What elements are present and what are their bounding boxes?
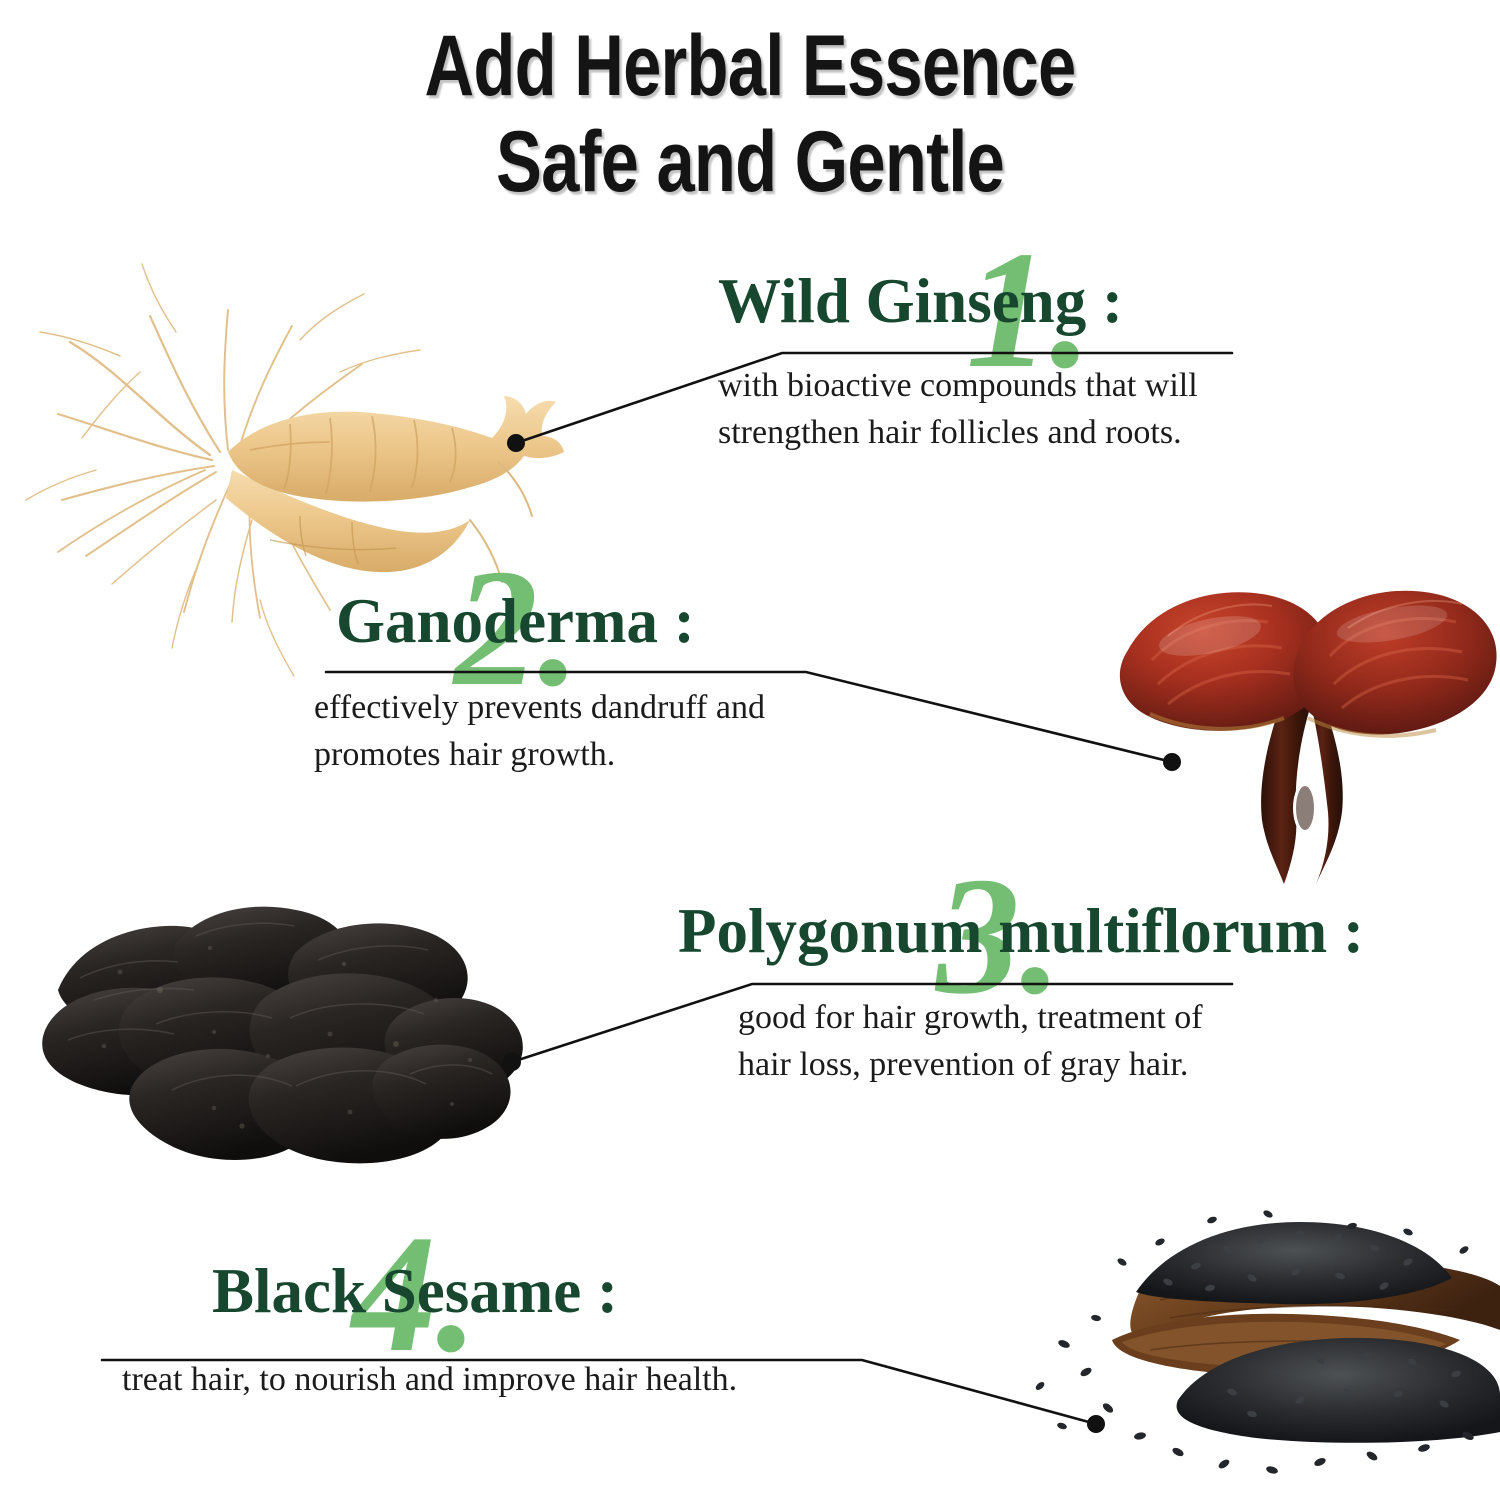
ingredient-2-description-line-1: effectively prevents dandruff and [314, 684, 765, 731]
ingredient-1-title: Wild Ginseng : [718, 268, 1198, 334]
polygonum-multiflorum-slices-photo [42, 907, 523, 1164]
ganoderma-reishi-mushroom-photo [1120, 591, 1497, 884]
title-line-1: Add Herbal Essence [150, 18, 1350, 114]
black-sesame-seeds-scoop-photo [1034, 1209, 1500, 1475]
ingredient-4-heading-group: 4. Black Sesame : [212, 1258, 737, 1324]
ingredient-block-4: 4. Black Sesame : treat hair, to nourish… [212, 1258, 737, 1403]
page-title: Add Herbal Essence Safe and Gentle [0, 18, 1500, 210]
title-line-2: Safe and Gentle [150, 114, 1350, 210]
ingredient-1-description-line-2: strengthen hair follicles and roots. [718, 409, 1198, 456]
ingredient-2-title: Ganoderma : [336, 588, 765, 654]
ingredient-block-3: 3. Polygonum multiflorum : good for hair… [678, 898, 1364, 1088]
ingredient-1-description-line-1: with bioactive compounds that will [718, 362, 1198, 409]
ingredient-2-heading-group: 2. Ganoderma : [336, 588, 765, 654]
ingredient-4-title: Black Sesame : [212, 1258, 737, 1324]
ingredient-block-1: 1. Wild Ginseng : with bioactive compoun… [718, 268, 1198, 456]
ingredient-1-heading-group: 1. Wild Ginseng : [718, 268, 1198, 334]
ingredient-2-description-line-2: promotes hair growth. [314, 731, 765, 778]
ingredient-4-description-line-1: treat hair, to nourish and improve hair … [122, 1356, 737, 1403]
ingredient-block-2: 2. Ganoderma : effectively prevents dand… [336, 588, 765, 778]
ingredient-3-title: Polygonum multiflorum : [678, 898, 1364, 964]
infographic-canvas: Add Herbal Essence Safe and Gentle 1. Wi… [0, 0, 1500, 1500]
ingredient-3-description-line-1: good for hair growth, treatment of [738, 994, 1364, 1041]
ingredient-3-description-line-2: hair loss, prevention of gray hair. [738, 1041, 1364, 1088]
ingredient-3-heading-group: 3. Polygonum multiflorum : [678, 898, 1364, 964]
